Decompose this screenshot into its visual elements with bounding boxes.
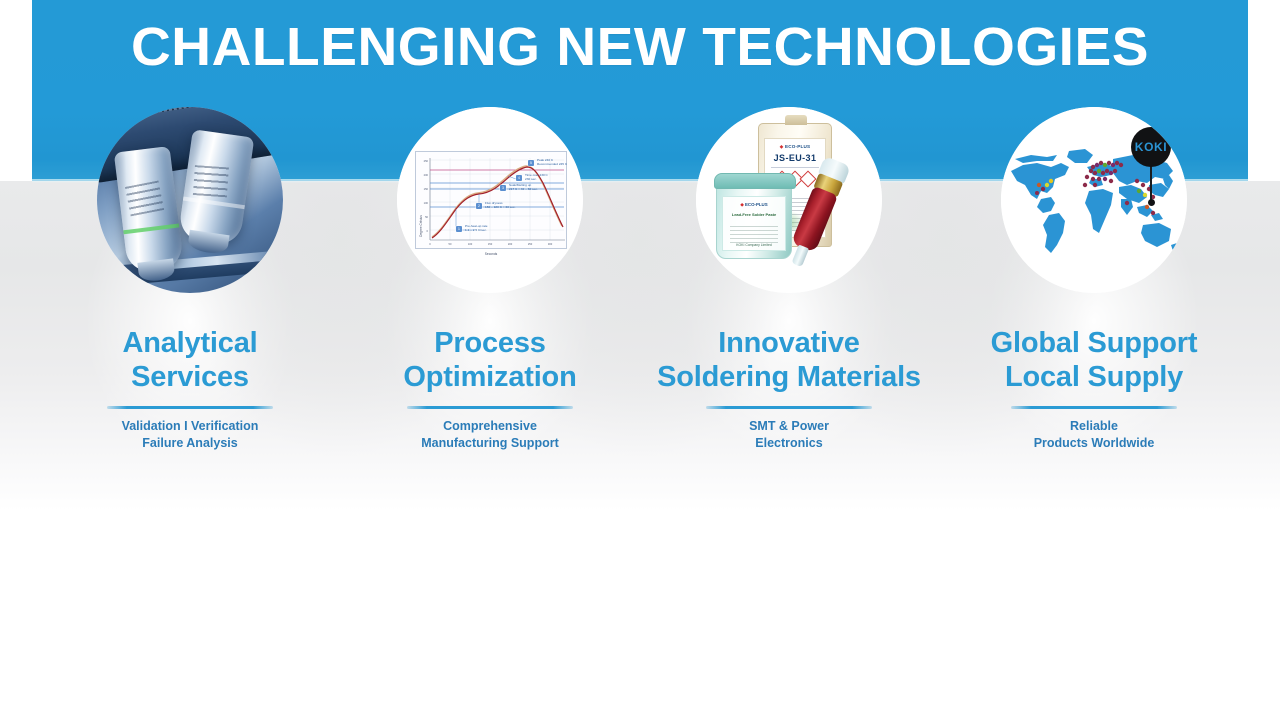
reflow-profile-chart: 050100 150200250 300 250200150 100500 1 [397,107,583,293]
caption-divider [407,406,573,409]
caption-analytical-services: Analytical Services Validation I Verific… [40,326,340,452]
slide-canvas: CHALLENGING NEW TECHNOLOGIES Analytical … [0,0,1280,720]
svg-text:100: 100 [468,242,473,246]
chart-annotation-marker-1: 1 [456,226,462,232]
chart-annotation-marker-3: 3 [500,185,506,191]
svg-text:0: 0 [427,229,429,233]
svg-text:200: 200 [508,242,513,246]
feature-columns: Analytical Services Validation I Verific… [0,0,1280,520]
caption-innovative-soldering-materials: Innovative Soldering Materials SMT & Pow… [639,326,939,452]
caption-process-optimization: Process Optimization Comprehensive Manuf… [340,326,640,452]
caption-global-support-local-supply: Global Support Local Supply Reliable Pro… [944,326,1244,452]
microscope-objectives-photo [97,107,283,293]
chart-annotation-marker-5: 5 [528,160,534,166]
heading-line-2: Soldering Materials [657,361,921,393]
heading-line-1: Analytical [123,327,258,359]
chart-annotation-marker-4: 4 [516,175,522,181]
chart-y-axis-label: Degree Celsius [419,215,423,237]
subtitle-line-2: Failure Analysis [142,436,237,450]
heading-line-2: Services [131,361,249,393]
chart-annotation-marker-2: 2 [476,203,482,209]
svg-text:200: 200 [424,173,429,177]
chart-x-axis-label: Seconds [416,252,566,256]
heading-line-2: Optimization [403,361,576,393]
chart-plot-area: 050100 150200250 300 250200150 100500 1 [415,151,567,249]
caption-divider [706,406,872,409]
chart-annotation-text-4: Time over 230 C230 sec. [525,173,548,181]
jar-footer: KOKI Company Limited [723,243,785,247]
feature-column-global-support-local-supply[interactable]: KOKI Global Support Local Supply Reliabl… [944,107,1244,293]
subtitle-line-1: Comprehensive [443,419,537,433]
world-map-photo: KOKI [1001,107,1187,293]
jar-title: Lead-Free Solder Paste [723,212,785,217]
svg-text:100: 100 [424,201,429,205]
subtitle-line-1: Validation I Verification [122,419,259,433]
svg-text:250: 250 [424,159,429,163]
svg-text:150: 150 [424,187,429,191]
svg-text:50: 50 [449,242,452,246]
koki-logo-badge: KOKI [1131,127,1171,167]
bottle-model: JS-EU-31 [765,153,825,163]
heading-line-2: Local Supply [1005,361,1183,393]
koki-badge-pointer [1150,165,1152,201]
heading-line-1: Process [434,327,545,359]
svg-text:50: 50 [425,215,428,219]
chart-annotation-text-3: Soak/Melting up217 C = 40 ~ 60 sec. [509,183,538,191]
bottle-brand: ECO-PLUS [785,144,810,149]
subtitle-line-1: Reliable [1070,419,1118,433]
svg-text:150: 150 [488,242,493,246]
heading-line-1: Innovative [718,327,859,359]
subtitle-line-2: Electronics [755,436,822,450]
caption-divider [1011,406,1177,409]
heading-line-1: Global Support [991,327,1198,359]
solder-products-photo: ◆ ECO-PLUS JS-EU-31 KOKI ◆ ECO-PLUS [696,107,882,293]
chart-annotation-text-1: Pre-heat-up rate1.1 ~ 2.5 C/sec. [465,224,488,232]
subtitle-line-2: Manufacturing Support [421,436,559,450]
koki-badge-anchor-dot [1148,199,1155,206]
subtitle-line-2: Products Worldwide [1034,436,1155,450]
svg-text:300: 300 [548,242,553,246]
caption-divider [107,406,273,409]
svg-text:250: 250 [528,242,533,246]
feature-column-process-optimization[interactable]: 050100 150200250 300 250200150 100500 1 [340,107,640,293]
svg-text:0: 0 [429,242,431,246]
feature-column-innovative-soldering-materials[interactable]: ◆ ECO-PLUS JS-EU-31 KOKI ◆ ECO-PLUS [639,107,939,293]
feature-column-analytical-services[interactable]: Analytical Services Validation I Verific… [40,107,340,293]
jar-brand: ECO-PLUS [745,202,768,207]
subtitle-line-1: SMT & Power [749,419,829,433]
chart-annotation-text-5: Peak 240 CRecommended 245 C [537,158,567,166]
solder-paste-jar: ◆ ECO-PLUS Lead-Free Solder Paste KOKI C… [716,183,792,259]
chart-annotation-text-2: Flux dryness150 ~ 180 C = 60 sec. [485,201,515,209]
